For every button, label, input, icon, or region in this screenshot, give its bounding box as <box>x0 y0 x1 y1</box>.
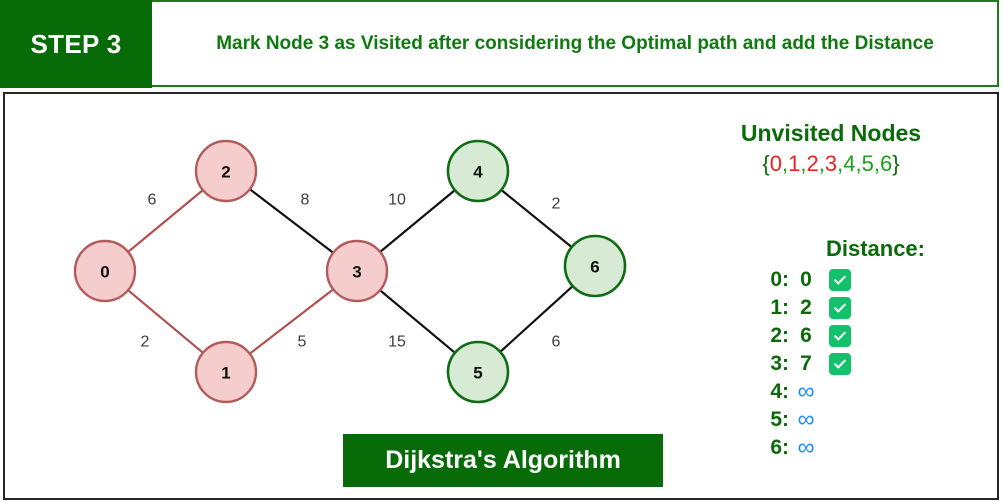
graph-node-1[interactable]: 1 <box>196 342 256 402</box>
check-icon <box>829 269 851 291</box>
node-layer: 0123456 <box>75 141 625 402</box>
header-title-text: Mark Node 3 as Visited after considering… <box>216 33 934 55</box>
edge-weight-1-3: 5 <box>298 334 307 351</box>
distance-row: 5:∞ <box>665 406 997 434</box>
graph-node-label-5: 5 <box>473 364 482 383</box>
unvisited-set-item-6: 6 <box>880 151 892 176</box>
edge-weight-3-4: 10 <box>388 192 406 209</box>
distance-value: ∞ <box>789 378 823 406</box>
distance-list: 0:01:22:63:74:∞5:∞6:∞ <box>665 266 997 462</box>
distance-node-key: 6: <box>665 436 789 460</box>
edge-weight-5-6: 6 <box>552 334 561 351</box>
distance-value: 6 <box>789 324 823 348</box>
distance-row: 0:0 <box>665 266 997 294</box>
step-badge: STEP 3 <box>0 0 152 88</box>
distance-heading: Distance: <box>665 236 925 262</box>
distance-node-key: 0: <box>665 268 789 292</box>
graph-edge-4-6 <box>501 189 573 247</box>
graph-edge-0-1 <box>127 290 203 354</box>
graph-node-6[interactable]: 6 <box>565 236 625 296</box>
distance-node-key: 3: <box>665 352 789 376</box>
distance-row: 6:∞ <box>665 434 997 462</box>
unvisited-set-item-3: 3 <box>825 151 837 176</box>
unvisited-set-item-4: 4 <box>843 151 855 176</box>
edge-weight-3-5: 15 <box>388 334 406 351</box>
graph-node-label-2: 2 <box>221 163 230 182</box>
graph-node-0[interactable]: 0 <box>75 241 135 301</box>
header-title: Mark Node 3 as Visited after considering… <box>160 0 996 88</box>
graph-edge-2-3 <box>249 189 334 254</box>
check-icon <box>829 353 851 375</box>
edge-weight-0-1: 2 <box>141 334 150 351</box>
unvisited-set-item-0: 0 <box>770 151 782 176</box>
unvisited-set-item-5: 5 <box>862 151 874 176</box>
distance-node-key: 1: <box>665 296 789 320</box>
graph-node-label-3: 3 <box>352 263 361 282</box>
edge-weight-4-6: 2 <box>552 196 561 213</box>
distance-row: 1:2 <box>665 294 997 322</box>
distance-value: 0 <box>789 268 823 292</box>
distance-node-key: 5: <box>665 408 789 432</box>
graph-node-5[interactable]: 5 <box>448 342 508 402</box>
header: STEP 3 Mark Node 3 as Visited after cons… <box>0 0 1002 90</box>
distance-row: 2:6 <box>665 322 997 350</box>
distance-node-key: 2: <box>665 324 789 348</box>
slide-root: STEP 3 Mark Node 3 as Visited after cons… <box>0 0 1002 502</box>
graph-node-label-4: 4 <box>473 163 483 182</box>
graph-edge-0-2 <box>127 189 203 252</box>
check-icon <box>829 325 851 347</box>
graph-edge-1-3 <box>249 289 334 355</box>
unvisited-set-item-2: 2 <box>807 151 819 176</box>
distance-value: ∞ <box>789 406 823 434</box>
body-panel: 6285101526 0123456 Dijkstra's Algorithm … <box>3 92 999 500</box>
graph-node-label-0: 0 <box>100 263 109 282</box>
graph-node-4[interactable]: 4 <box>448 141 508 201</box>
distance-value: ∞ <box>789 434 823 462</box>
distance-row: 3:7 <box>665 350 997 378</box>
graph-edge-5-6 <box>499 285 573 352</box>
distance-value: 7 <box>789 352 823 376</box>
unvisited-open-brace: { <box>762 151 769 176</box>
info-panel: Unvisited Nodes {0,1,2,3,4,5,6} Distance… <box>665 94 997 498</box>
edge-weight-2-3: 8 <box>301 192 310 209</box>
graph-node-label-1: 1 <box>221 364 230 383</box>
distance-node-key: 4: <box>665 380 789 404</box>
distance-value: 2 <box>789 296 823 320</box>
graph-node-3[interactable]: 3 <box>327 241 387 301</box>
check-icon <box>829 297 851 319</box>
algorithm-title-banner: Dijkstra's Algorithm <box>343 434 663 487</box>
edge-weight-0-2: 6 <box>148 192 157 209</box>
graph-node-label-6: 6 <box>590 258 599 277</box>
step-badge-label: STEP 3 <box>31 29 122 60</box>
distance-row: 4:∞ <box>665 378 997 406</box>
unvisited-nodes-heading: Unvisited Nodes <box>665 120 997 147</box>
algorithm-title-text: Dijkstra's Algorithm <box>385 446 621 475</box>
unvisited-set-item-1: 1 <box>788 151 800 176</box>
unvisited-nodes-set: {0,1,2,3,4,5,6} <box>665 151 997 177</box>
unvisited-close-brace: } <box>892 151 899 176</box>
graph-node-2[interactable]: 2 <box>196 141 256 201</box>
